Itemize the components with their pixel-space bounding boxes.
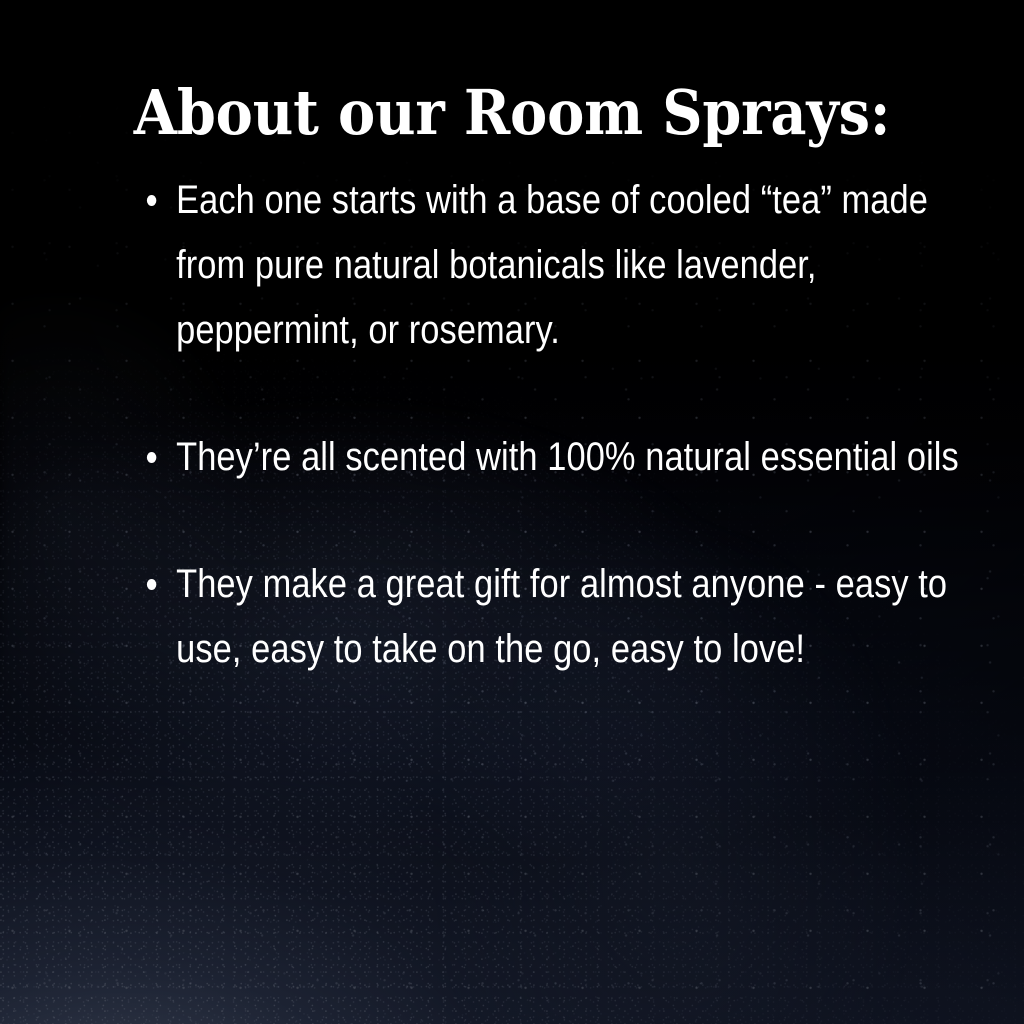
bullet-dot-icon bbox=[147, 195, 156, 206]
list-item-text: They’re all scented with 100% natural es… bbox=[176, 425, 974, 490]
list-item-text: Each one starts with a base of cooled “t… bbox=[176, 168, 974, 363]
room-sprays-info-card: About our Room Sprays: Each one starts w… bbox=[0, 0, 1024, 1024]
list-item: Each one starts with a base of cooled “t… bbox=[140, 168, 974, 363]
feature-bullet-list: Each one starts with a base of cooled “t… bbox=[140, 168, 940, 682]
bullet-dot-icon bbox=[147, 579, 156, 590]
bullet-dot-icon bbox=[147, 452, 156, 463]
list-item: They’re all scented with 100% natural es… bbox=[140, 425, 974, 490]
list-item: They make a great gift for almost anyone… bbox=[140, 552, 974, 682]
page-title: About our Room Sprays: bbox=[51, 82, 973, 144]
list-item-text: They make a great gift for almost anyone… bbox=[176, 552, 974, 682]
content-container: About our Room Sprays: Each one starts w… bbox=[0, 0, 1024, 1024]
